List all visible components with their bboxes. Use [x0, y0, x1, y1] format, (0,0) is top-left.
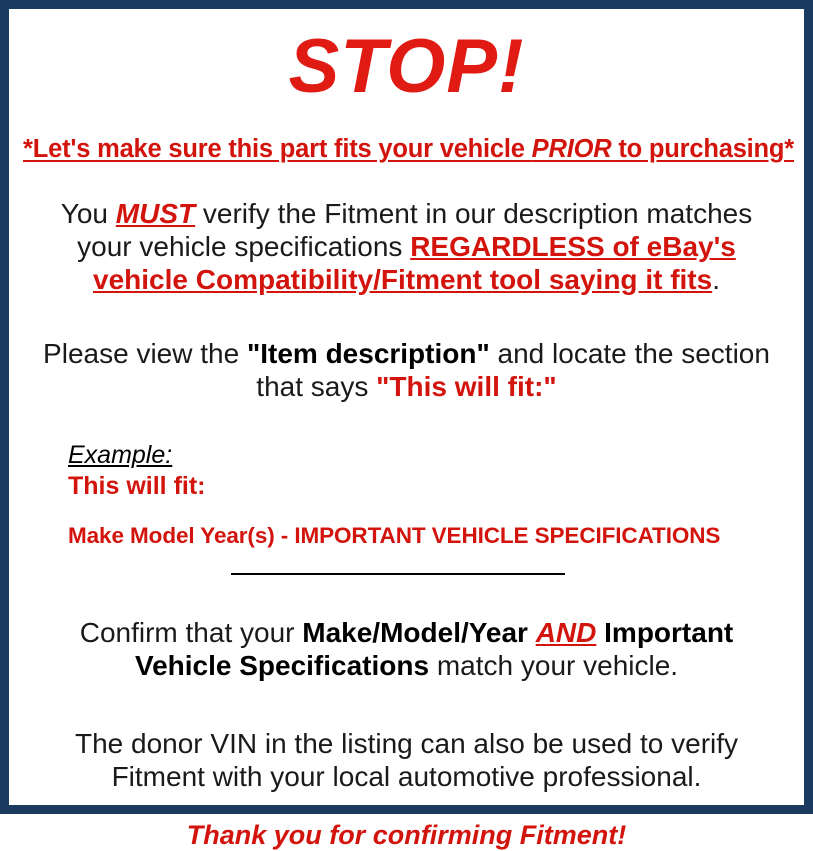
section-divider — [231, 573, 565, 575]
fitment-notice-frame: STOP! *Let's make sure this part fits yo… — [0, 0, 813, 814]
vin-paragraph: The donor VIN in the listing can also be… — [23, 728, 790, 794]
must-verify-paragraph: You MUST verify the Fitment in our descr… — [23, 198, 790, 296]
example-section: Example: This will fit: Make Model Year(… — [23, 442, 790, 549]
example-label: Example: — [68, 442, 790, 469]
and-emphasis: AND — [536, 617, 597, 648]
example-spec-line: Make Model Year(s) - IMPORTANT VEHICLE S… — [68, 523, 790, 549]
confirm-paragraph: Confirm that your Make/Model/Year AND Im… — [23, 617, 790, 683]
notice-body: STOP! *Let's make sure this part fits yo… — [9, 9, 804, 805]
item-description-emphasis: "Item description" — [247, 338, 490, 369]
this-will-fit-quote: "This will fit:" — [376, 371, 557, 402]
stop-headline: STOP! — [23, 29, 790, 105]
tagline-before: *Let's make sure this part fits your veh… — [23, 135, 532, 163]
tagline-after: to purchasing* — [611, 135, 794, 163]
view-paragraph-part1: Please view the — [43, 338, 247, 369]
example-fit-heading: This will fit: — [68, 471, 790, 501]
view-description-paragraph: Please view the "Item description" and l… — [23, 338, 790, 404]
thank-you-line: Thank you for confirming Fitment! — [23, 820, 790, 851]
must-paragraph-part3: . — [712, 264, 720, 295]
confirm-part2: match your vehicle. — [429, 650, 678, 681]
make-model-year-emphasis: Make/Model/Year — [302, 617, 528, 648]
divider-wrap — [23, 573, 790, 575]
must-paragraph-part1: You — [61, 198, 116, 229]
confirm-part1: Confirm that your — [80, 617, 303, 648]
must-emphasis: MUST — [116, 198, 195, 229]
fitment-tagline: *Let's make sure this part fits your veh… — [23, 135, 790, 164]
tagline-prior-emphasis: PRIOR — [532, 135, 612, 163]
